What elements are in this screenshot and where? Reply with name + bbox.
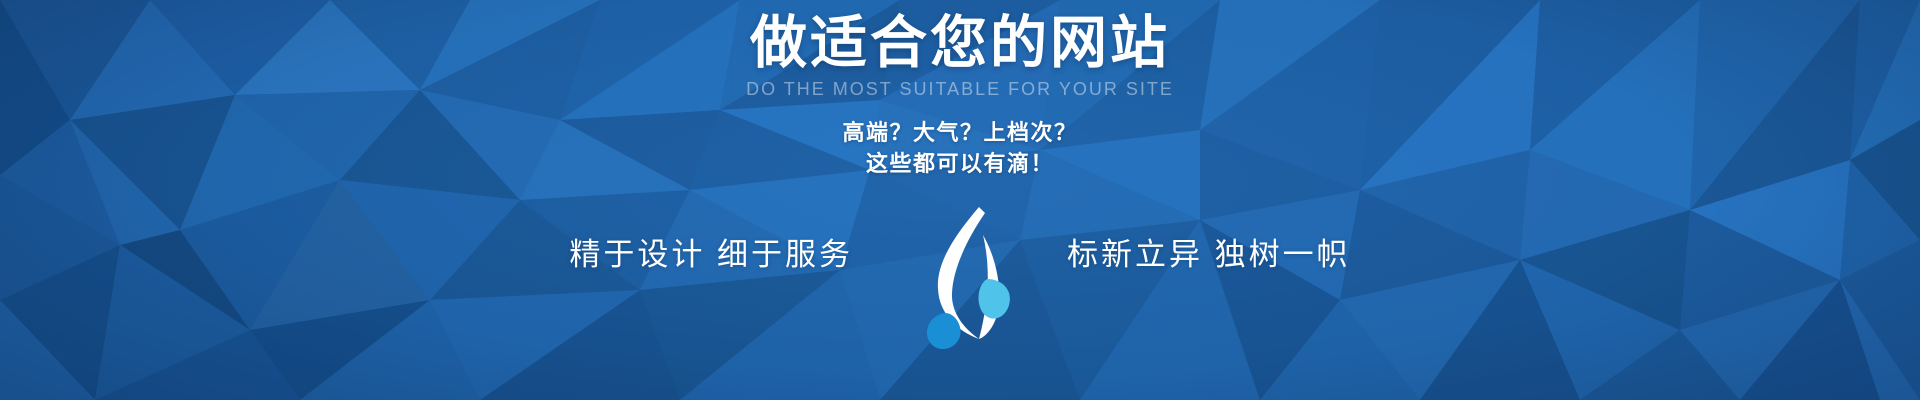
slogan-line-2: 这些都可以有滴！ [842, 149, 1077, 179]
tagline-row: 精于设计 细于服务 标新立异 独树一帜 [569, 201, 1350, 303]
tagline-right: 标新立异 独树一帜 [1067, 229, 1351, 274]
slogan-line-1: 高端？大气？上档次？ [842, 118, 1077, 148]
tagline-left: 精于设计 细于服务 [569, 229, 853, 274]
banner-content: 做适合您的网站 DO THE MOST SUITABLE FOR YOUR SI… [0, 0, 1920, 400]
swan-leaf-logo-icon [905, 201, 1015, 351]
main-title: 做适合您的网站 [750, 0, 1170, 77]
hero-banner: 做适合您的网站 DO THE MOST SUITABLE FOR YOUR SI… [0, 0, 1920, 400]
subtitle-english: DO THE MOST SUITABLE FOR YOUR SITE [746, 79, 1174, 100]
slogan-block: 高端？大气？上档次？ 这些都可以有滴！ [842, 118, 1077, 179]
